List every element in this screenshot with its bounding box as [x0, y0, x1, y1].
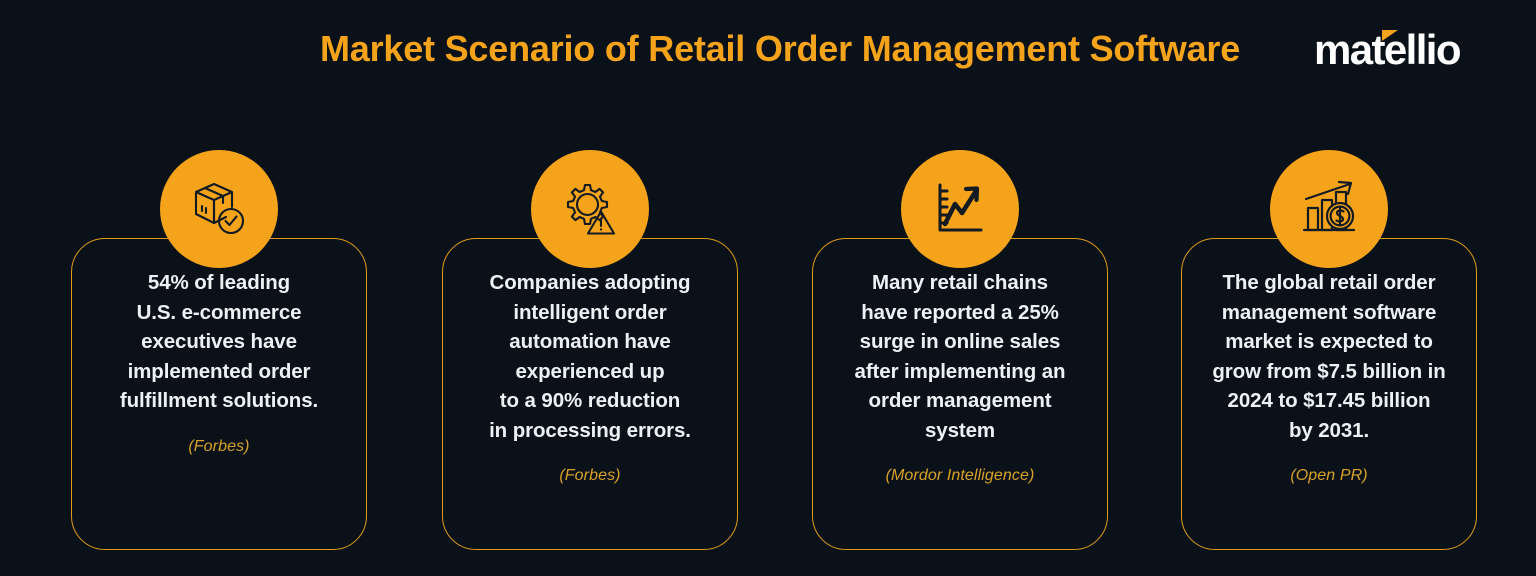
header: Market Scenario of Retail Order Manageme…	[0, 0, 1536, 140]
stat-card-body: 54% of leading U.S. e-commerce executive…	[71, 268, 367, 456]
package-check-icon	[160, 150, 278, 268]
brand-logo[interactable]: matellio	[1314, 24, 1504, 76]
stat-card-text: Companies adopting intelligent order aut…	[458, 268, 722, 445]
stat-card-text: The global retail order management softw…	[1197, 268, 1461, 445]
growth-chart-arrow-icon	[901, 150, 1019, 268]
stat-card[interactable]: Many retail chains have reported a 25% s…	[812, 150, 1108, 550]
bar-chart-dollar-icon	[1270, 150, 1388, 268]
stat-card-body: Many retail chains have reported a 25% s…	[812, 268, 1108, 485]
stat-card[interactable]: 54% of leading U.S. e-commerce executive…	[71, 150, 367, 550]
triangle-accent-icon	[1382, 30, 1398, 41]
stat-card-source: (Open PR)	[1197, 467, 1461, 485]
stat-card-text: 54% of leading U.S. e-commerce executive…	[87, 268, 351, 416]
stat-card-text: Many retail chains have reported a 25% s…	[828, 268, 1092, 445]
stat-card-source: (Forbes)	[87, 438, 351, 456]
stat-cards-row: 54% of leading U.S. e-commerce executive…	[0, 150, 1536, 560]
stat-card[interactable]: The global retail order management softw…	[1181, 150, 1477, 550]
stat-card-source: (Forbes)	[458, 467, 722, 485]
page-title: Market Scenario of Retail Order Manageme…	[300, 26, 1260, 72]
stat-card[interactable]: Companies adopting intelligent order aut…	[442, 150, 738, 550]
stat-card-body: Companies adopting intelligent order aut…	[442, 268, 738, 485]
stat-card-body: The global retail order management softw…	[1181, 268, 1477, 485]
stat-card-source: (Mordor Intelligence)	[828, 467, 1092, 485]
gear-warning-icon	[531, 150, 649, 268]
infographic-root: Market Scenario of Retail Order Manageme…	[0, 0, 1536, 576]
